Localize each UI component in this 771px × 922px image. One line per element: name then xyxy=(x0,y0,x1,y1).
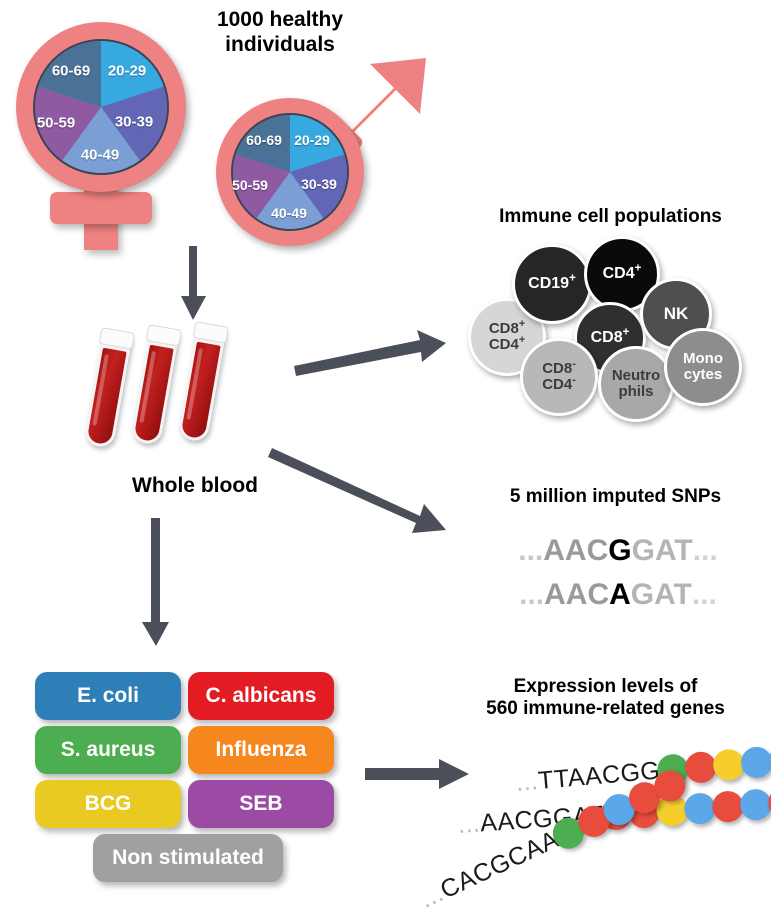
female-pie-label-60-69: 60-69 xyxy=(52,63,90,80)
rna-bead-blue xyxy=(739,788,771,821)
rna-bead-blue xyxy=(740,746,771,780)
arrow-cohort-to-blood xyxy=(178,246,208,322)
immune-cells-heading: Immune cell populations xyxy=(450,206,771,228)
blood-tube xyxy=(130,326,180,445)
stimulus-label: E. coli xyxy=(77,684,139,708)
immune-cell-populations-section: Immune cell populations CD8+CD4+ CD19+ C… xyxy=(450,200,771,420)
male-pie-label-30-39: 30-39 xyxy=(301,176,337,192)
male-pie-label-20-29: 20-29 xyxy=(294,132,330,148)
stimulus-pill-influenza[interactable]: Influenza xyxy=(188,726,334,774)
rna-prefix: ... xyxy=(457,809,481,838)
stimulus-label: SEB xyxy=(239,792,282,816)
snp-suffix: ... xyxy=(693,534,718,568)
rna-prefix: ... xyxy=(515,767,540,797)
female-gender-symbol: 20-29 30-39 40-49 50-59 60-69 xyxy=(8,14,198,244)
snp-left-bases: AAC xyxy=(543,534,608,568)
snp-right-bases: GAT xyxy=(632,534,693,568)
cohort-section: 1000 healthy individuals 20-29 30-39 40-… xyxy=(0,0,440,250)
male-pie-label-50-59: 50-59 xyxy=(232,177,268,193)
stimuli-section: E. coli C. albicans S. aureus Influenza … xyxy=(30,672,350,902)
immune-cell-label: CD8-CD4- xyxy=(542,361,576,392)
stimulus-pill-bcg[interactable]: BCG xyxy=(35,780,181,828)
gene-expression-heading-line2: 560 immune-related genes xyxy=(440,698,771,720)
immune-cell-cd19p: CD19+ xyxy=(512,244,592,324)
snps-heading: 5 million imputed SNPs xyxy=(460,486,771,508)
snp-prefix: ... xyxy=(519,578,544,612)
arrow-blood-to-stimuli xyxy=(140,518,172,648)
female-symbol-crossbar xyxy=(50,192,152,224)
gene-expression-section: Expression levels of 560 immune-related … xyxy=(440,668,771,922)
immune-cell-label: Monocytes xyxy=(683,351,723,382)
immune-cell-label: CD19+ xyxy=(528,276,576,293)
snp-right-bases: GAT xyxy=(631,578,692,612)
stimulus-pill-non-stimulated[interactable]: Non stimulated xyxy=(93,834,283,882)
stimulus-label: Influenza xyxy=(215,738,306,762)
snp-sequence-row: ...AACGGAT... xyxy=(488,534,748,568)
snp-variant-base: G xyxy=(608,534,631,568)
blood-tube xyxy=(177,323,227,442)
stimulus-pill-e-coli[interactable]: E. coli xyxy=(35,672,181,720)
immune-cell-neutrophils: Neutrophils xyxy=(598,346,674,422)
stimulus-pill-seb[interactable]: SEB xyxy=(188,780,334,828)
arrow-blood-to-immune-cells xyxy=(294,330,454,378)
snp-sequence-row: ...AACAGAT... xyxy=(488,578,748,612)
immune-cell-cd8n-cd4n: CD8-CD4- xyxy=(520,338,598,416)
female-pie-label-30-39: 30-39 xyxy=(115,114,153,131)
stimulus-pill-s-aureus[interactable]: S. aureus xyxy=(35,726,181,774)
immune-cell-label: Neutrophils xyxy=(612,368,660,399)
stimulus-pill-c-albicans[interactable]: C. albicans xyxy=(188,672,334,720)
immune-cell-label: CD8+ xyxy=(591,330,630,347)
stimulus-label: Non stimulated xyxy=(112,846,264,870)
cohort-heading: 1000 healthy individuals xyxy=(180,8,380,58)
immune-cell-label: CD4+ xyxy=(603,266,642,283)
stimulus-label: BCG xyxy=(85,792,132,816)
stimulus-label: S. aureus xyxy=(61,738,156,762)
whole-blood-label: Whole blood xyxy=(90,474,300,499)
snp-variant-base: A xyxy=(609,578,631,612)
female-pie-label-50-59: 50-59 xyxy=(37,115,75,132)
female-pie-label-20-29: 20-29 xyxy=(108,63,146,80)
gene-expression-heading-line1: Expression levels of xyxy=(440,676,771,698)
male-pie-label-60-69: 60-69 xyxy=(246,132,282,148)
snp-prefix: ... xyxy=(518,534,543,568)
male-gender-symbol: 20-29 30-39 40-49 50-59 60-69 xyxy=(206,52,426,248)
blood-tube xyxy=(83,329,133,448)
cohort-heading-line1: 1000 healthy xyxy=(180,8,380,33)
snp-suffix: ... xyxy=(692,578,717,612)
snps-section: 5 million imputed SNPs ...AACGGAT... ...… xyxy=(460,482,771,622)
immune-cell-label: CD8+CD4+ xyxy=(489,321,525,352)
rna-bead-yellow xyxy=(712,748,746,782)
gene-expression-heading: Expression levels of 560 immune-related … xyxy=(440,676,771,721)
female-pie-label-40-49: 40-49 xyxy=(81,147,119,164)
snp-left-bases: AAC xyxy=(544,578,609,612)
arrow-blood-to-snps xyxy=(272,440,452,540)
immune-cell-label: NK xyxy=(664,305,689,323)
stimulus-label: C. albicans xyxy=(206,684,317,708)
male-pie-label-40-49: 40-49 xyxy=(271,205,307,221)
immune-cell-monocytes: Monocytes xyxy=(664,328,742,406)
